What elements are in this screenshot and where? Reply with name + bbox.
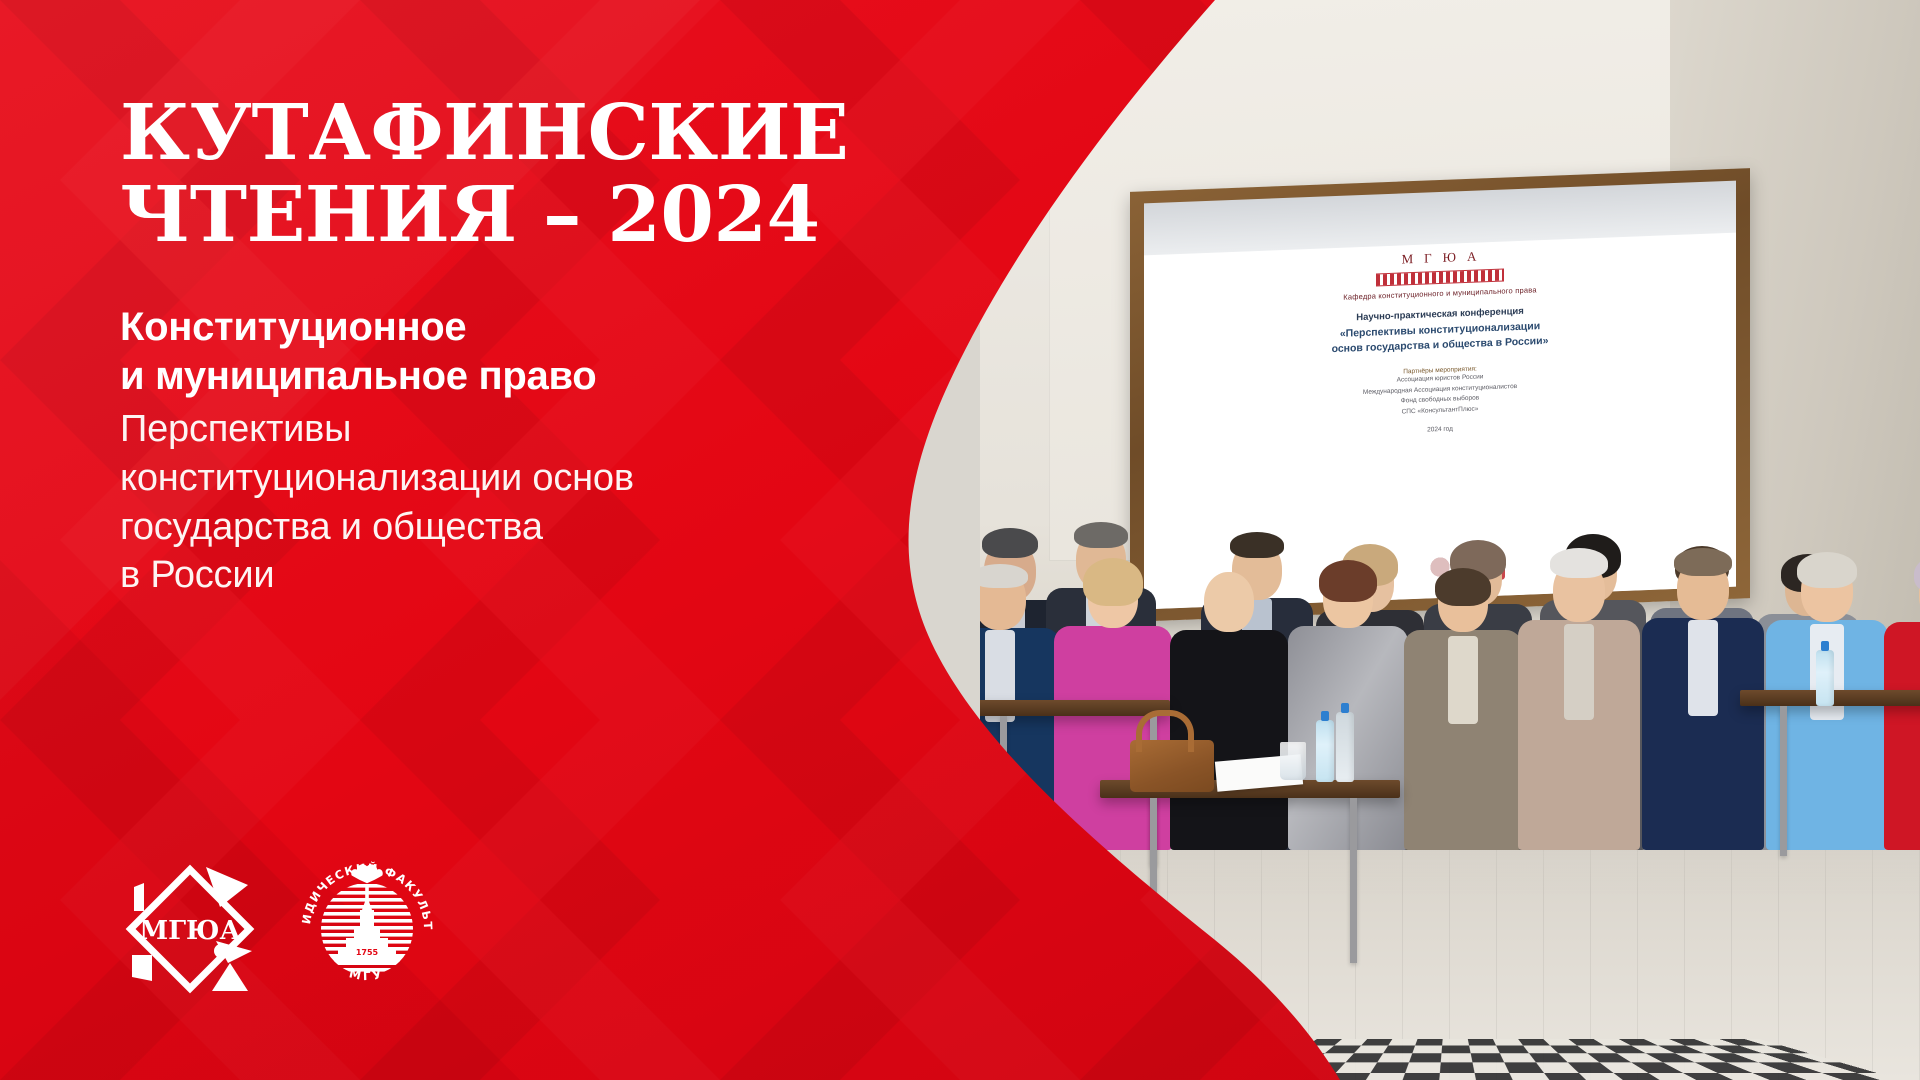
desk (980, 700, 1170, 716)
water-bottle (1336, 712, 1354, 782)
logo-row: МГЮА МГЮА ЮРИДИЧЕСКИЙ ФАКУЛЬТЕТ (120, 856, 440, 1002)
poster-content: КУТАФИНСКИЕ ЧТЕНИЯ – 2024 Конституционно… (120, 0, 940, 1080)
title-line-1: КУТАФИНСКИЕ (120, 92, 940, 174)
slide-logo-letter-m: М (1402, 251, 1416, 268)
person (1284, 550, 1412, 850)
desk-leg (1780, 706, 1787, 856)
desk-leg (1150, 798, 1157, 963)
mgua-logo: МГЮА МГЮА (120, 859, 260, 999)
water-bottle (1816, 650, 1834, 706)
subtitle-bold: Конституционное и муниципальное право (120, 303, 940, 401)
title-line-2: ЧТЕНИЯ – 2024 (120, 174, 940, 256)
mgua-logo-text: МГЮА (139, 916, 240, 946)
subtitle-light-line-1: Перспективы (120, 405, 940, 454)
slide-logo-letter-yu: Ю (1443, 249, 1458, 266)
water-glass (1280, 742, 1306, 780)
people-group (980, 330, 1920, 850)
slide-logo-bar (1376, 269, 1504, 287)
person (1166, 554, 1292, 850)
slide-logo-letter-g: Г (1424, 250, 1434, 266)
subtitle-bold-line-1: Конституционное (120, 303, 940, 352)
desk-leg (1000, 716, 1007, 866)
subtitle-bold-line-2: и муниципальное право (120, 352, 940, 401)
msu-law-faculty-logo: ЮРИДИЧЕСКИЙ ФАКУЛЬТЕТ МГУ (294, 856, 440, 1002)
subtitle-light: Перспективы конституционализации основ г… (120, 405, 940, 600)
leather-bag (1130, 740, 1214, 792)
subtitle-light-line-2: конституционализации основ (120, 454, 940, 503)
subtitle-light-line-4: в России (120, 551, 940, 600)
msu-logo-year: 1755 (356, 948, 379, 957)
page-title: КУТАФИНСКИЕ ЧТЕНИЯ – 2024 (120, 92, 940, 257)
subtitle-light-line-3: государства и общества (120, 503, 940, 552)
person (1514, 542, 1644, 850)
person (1400, 554, 1526, 850)
slide-logo-letter-a: А (1467, 249, 1478, 265)
poster-canvas: М Г Ю А Кафедра конституционного и муниц… (0, 0, 1920, 1080)
water-bottle (1316, 720, 1334, 782)
desk-leg (1350, 798, 1357, 963)
